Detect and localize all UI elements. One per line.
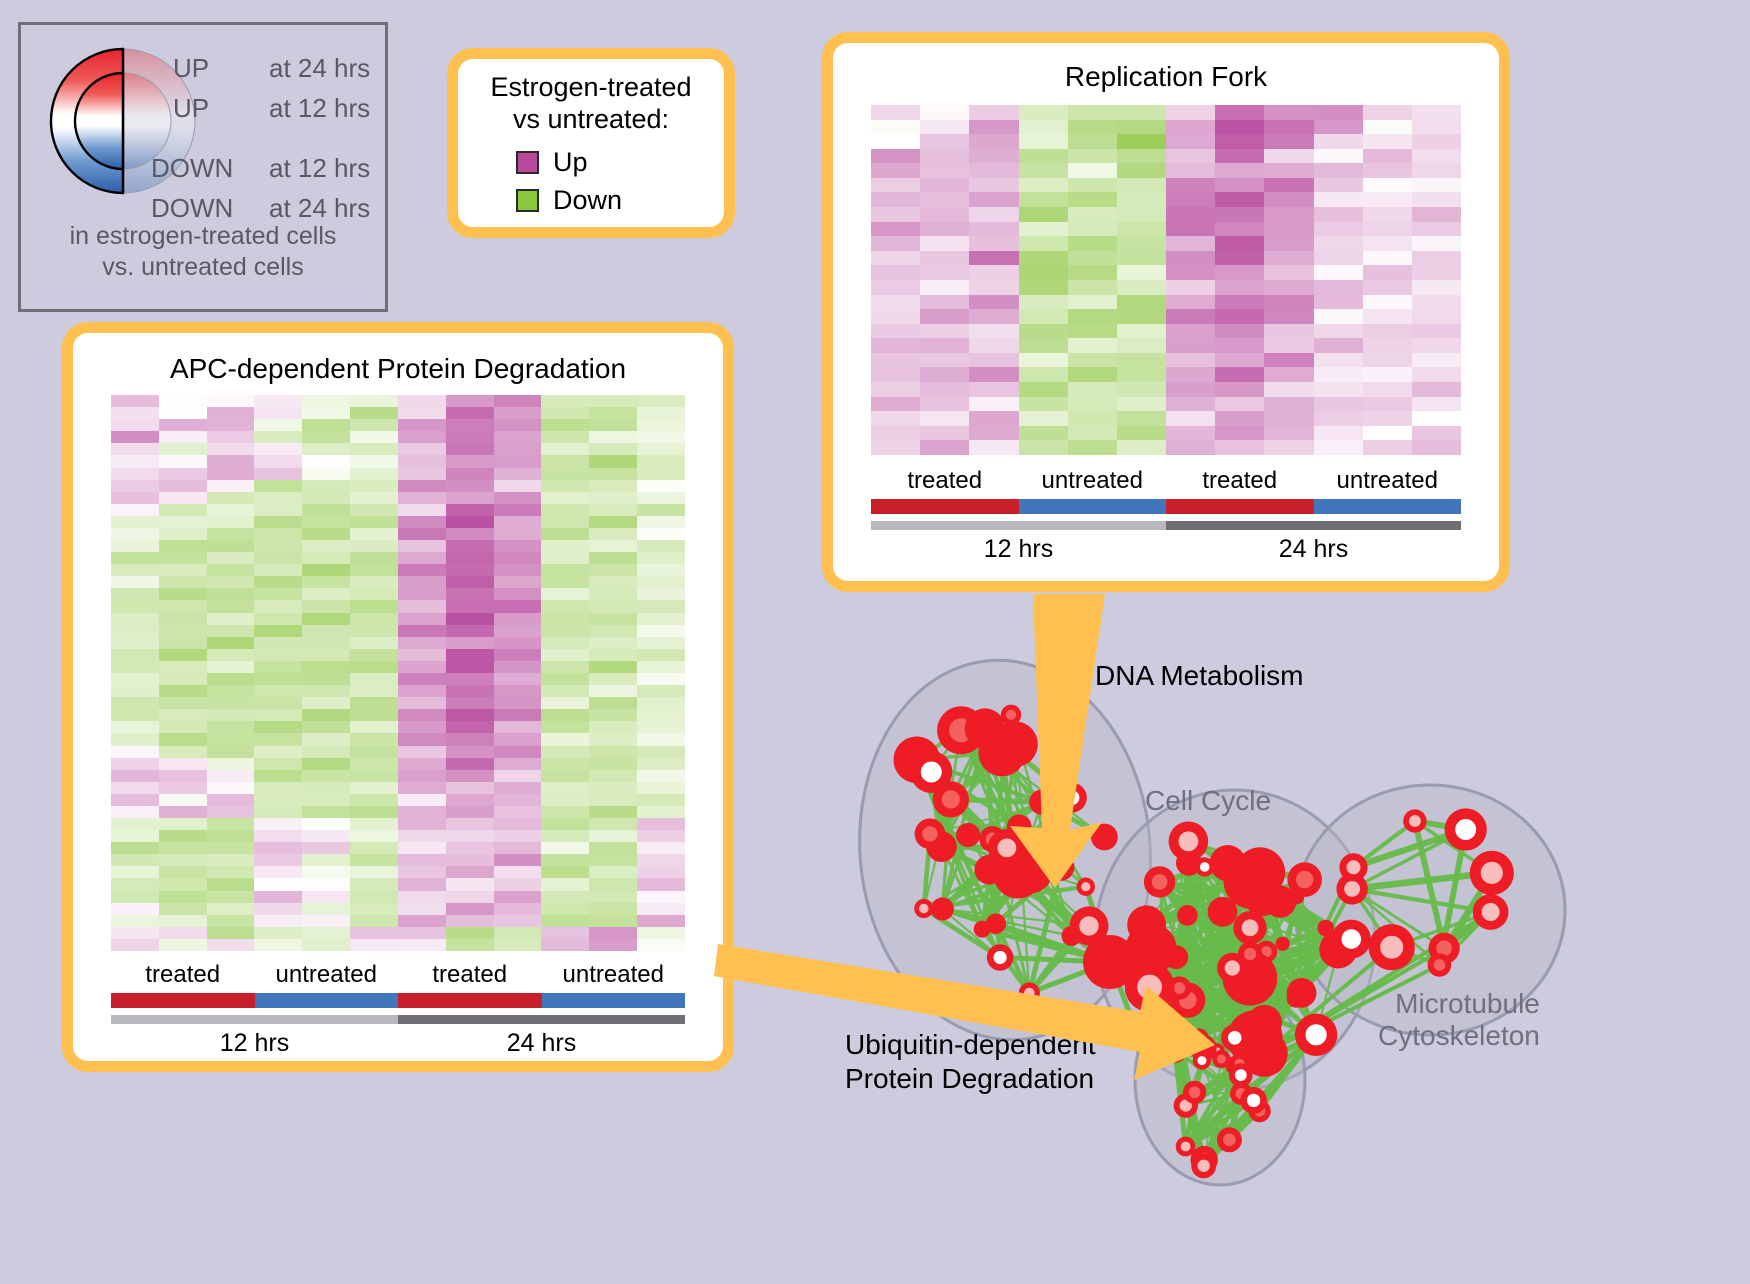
network-node[interactable] <box>1473 894 1509 930</box>
network-node[interactable] <box>1445 808 1487 850</box>
network-node-core <box>1242 919 1259 936</box>
network-node[interactable] <box>1470 851 1514 895</box>
network-node[interactable] <box>1317 920 1334 937</box>
network-node-core <box>998 839 1017 858</box>
network-node[interactable] <box>1240 1087 1267 1114</box>
network-node-core <box>1228 1031 1242 1045</box>
apc-time-labels: 12 hrs 24 hrs <box>111 1029 685 1058</box>
network-node[interactable] <box>933 781 969 817</box>
network-node[interactable] <box>1169 822 1209 862</box>
network-node-core <box>1198 1160 1210 1172</box>
key-time-3: at 24 hrs <box>269 193 370 224</box>
network-node[interactable] <box>1339 853 1367 881</box>
rf-condition-bar <box>871 499 1461 514</box>
apc-cond-0: treated <box>111 961 255 989</box>
apc-degradation-panel: APC-dependent Protein Degradation treate… <box>62 322 734 1072</box>
legend-label-down: Down <box>553 185 622 216</box>
rf-cond-2: treated <box>1166 467 1314 495</box>
network-node-core <box>1481 862 1503 884</box>
network-node[interactable] <box>1369 924 1415 970</box>
network-node[interactable] <box>1221 1024 1248 1051</box>
network-node-core <box>1006 710 1016 720</box>
network-node[interactable] <box>1233 911 1266 944</box>
replication-fork-heatmap <box>871 105 1461 455</box>
network-node-core <box>1174 982 1186 994</box>
network-node-core <box>1137 975 1162 1000</box>
replication-fork-panel: Replication Fork treated untreated treat… <box>822 32 1510 592</box>
network-node[interactable] <box>1176 1137 1196 1157</box>
key-direction-0: UP <box>173 53 209 84</box>
network-node[interactable] <box>1403 809 1426 832</box>
network-node-core <box>1179 831 1199 851</box>
network-node[interactable] <box>1047 853 1075 881</box>
legend-label-up: Up <box>553 147 588 178</box>
network-node[interactable] <box>1238 942 1262 966</box>
network-node-core <box>1054 860 1068 874</box>
legend-swatch-down <box>516 189 539 212</box>
cluster-label-cell-cycle: Cell Cycle <box>1145 785 1271 817</box>
network-node-core <box>1482 903 1500 921</box>
network-node[interactable] <box>1229 1063 1253 1087</box>
network-svg <box>790 610 1750 1279</box>
rf-time-labels: 12 hrs 24 hrs <box>871 535 1461 564</box>
apc-time-1: 24 hrs <box>398 1029 685 1058</box>
network-node-core <box>1200 862 1210 872</box>
apc-time-bar <box>111 1015 685 1024</box>
network-node[interactable] <box>1091 824 1118 851</box>
network-node[interactable] <box>931 898 954 921</box>
figure-canvas: UP at 24 hrs UP at 12 hrs DOWN at 12 hrs… <box>0 0 1750 1279</box>
legend-item-up: Up <box>516 147 588 178</box>
apc-title: APC-dependent Protein Degradation <box>73 353 723 385</box>
network-node[interactable] <box>1019 982 1040 1003</box>
network-node[interactable] <box>1276 937 1290 951</box>
network-node-core <box>922 826 937 841</box>
network-node-core <box>1169 1045 1181 1057</box>
rf-cond-0: treated <box>871 467 1019 495</box>
network-node-core <box>1217 1054 1226 1063</box>
updown-legend-card: Estrogen-treated vs untreated: Up Down <box>447 48 735 238</box>
cluster-label-microtubule: Microtubule Cytoskeleton <box>1378 988 1540 1052</box>
network-node-core <box>1296 871 1313 888</box>
network-node[interactable] <box>1428 953 1452 977</box>
network-node[interactable] <box>1062 926 1082 946</box>
apc-condition-labels: treated untreated treated untreated <box>111 961 685 989</box>
network-node-core <box>1409 815 1421 827</box>
network-node-core <box>1065 790 1080 805</box>
network-node[interactable] <box>1144 866 1175 897</box>
key-footer: in estrogen-treated cells vs. untreated … <box>21 221 385 282</box>
network-node-core <box>1344 881 1360 897</box>
network-node[interactable] <box>1191 1153 1216 1178</box>
network-node[interactable] <box>1077 878 1095 896</box>
rf-cond-3: untreated <box>1314 467 1462 495</box>
key-direction-2: DOWN <box>151 153 233 184</box>
network-node[interactable] <box>1217 1127 1242 1152</box>
network-node-core <box>1342 929 1362 949</box>
network-node[interactable] <box>1183 1081 1206 1104</box>
apc-cond-3: untreated <box>542 961 686 989</box>
network-node[interactable] <box>1193 1052 1211 1070</box>
network-node-core <box>1244 948 1256 960</box>
network-node-core <box>1247 1094 1260 1107</box>
network-node[interactable] <box>988 829 1026 867</box>
network-node[interactable] <box>1287 989 1306 1008</box>
rf-condition-labels: treated untreated treated untreated <box>871 467 1461 495</box>
network-node[interactable] <box>974 921 991 938</box>
legend-heading-line1: Estrogen-treated <box>458 71 724 103</box>
network-node[interactable] <box>1029 790 1054 815</box>
network-node[interactable] <box>1057 783 1087 813</box>
rf-cond-1: untreated <box>1019 467 1167 495</box>
network-node-core <box>1380 936 1403 959</box>
apc-time-0: 12 hrs <box>111 1029 398 1058</box>
apc-condition-bar <box>111 993 685 1008</box>
pathway-network-graph: DNA Metabolism Cell Cycle Microtubule Cy… <box>790 610 1750 1279</box>
key-time-0: at 24 hrs <box>269 53 370 84</box>
network-node[interactable] <box>914 899 933 918</box>
legend-item-down: Down <box>516 185 622 216</box>
key-footer-line1: in estrogen-treated cells <box>21 221 385 252</box>
network-node-core <box>1197 1056 1206 1065</box>
apc-cond-2: treated <box>398 961 542 989</box>
network-node-core <box>1223 1134 1236 1147</box>
replication-fork-title: Replication Fork <box>833 61 1499 93</box>
apc-heatmap <box>111 395 685 951</box>
cluster-label-ubiquitin: Ubiquitin-dependent Protein Degradation <box>845 1028 1096 1095</box>
network-node[interactable] <box>956 823 980 847</box>
rf-time-1: 24 hrs <box>1166 535 1461 564</box>
legend-heading: Estrogen-treated vs untreated: <box>458 71 724 136</box>
key-time-1: at 12 hrs <box>269 93 370 124</box>
network-node-core <box>1024 988 1035 999</box>
network-node-core <box>1225 960 1240 975</box>
network-node[interactable] <box>992 721 1038 767</box>
network-node[interactable] <box>915 819 946 850</box>
network-node[interactable] <box>987 944 1014 971</box>
network-node-core <box>1079 916 1098 935</box>
network-node-core <box>1152 874 1168 890</box>
network-node-core <box>1081 882 1090 891</box>
network-node-core <box>1306 1024 1327 1045</box>
network-node-core <box>1455 819 1476 840</box>
rf-time-bar <box>871 521 1461 530</box>
network-node-core <box>921 762 942 783</box>
network-node[interactable] <box>1128 1028 1152 1052</box>
cluster-label-dna-metabolism: DNA Metabolism <box>1095 660 1304 692</box>
network-node[interactable] <box>1083 935 1137 989</box>
network-node[interactable] <box>1163 1039 1187 1063</box>
network-node-core <box>1235 1069 1247 1081</box>
network-node[interactable] <box>1295 1014 1337 1056</box>
apc-cond-1: untreated <box>255 961 399 989</box>
key-footer-line2: vs. untreated cells <box>21 252 385 283</box>
network-node[interactable] <box>1127 905 1166 944</box>
network-node-core <box>919 904 929 914</box>
legend-heading-line2: vs untreated: <box>458 103 724 135</box>
key-direction-1: UP <box>173 93 209 124</box>
rf-time-0: 12 hrs <box>871 535 1166 564</box>
network-node-core <box>942 790 960 808</box>
network-node-core <box>1189 1087 1201 1099</box>
network-node-core <box>1434 959 1446 971</box>
network-node[interactable] <box>1332 920 1371 959</box>
network-node-core <box>1181 1142 1191 1152</box>
legend-swatch-up <box>516 151 539 174</box>
network-node-core <box>994 951 1007 964</box>
key-time-2: at 12 hrs <box>269 153 370 184</box>
network-node[interactable] <box>1264 886 1296 918</box>
network-node[interactable] <box>1177 905 1198 926</box>
key-direction-3: DOWN <box>151 193 233 224</box>
network-node-core <box>1347 860 1361 874</box>
color-key-box: UP at 24 hrs UP at 12 hrs DOWN at 12 hrs… <box>18 22 388 312</box>
